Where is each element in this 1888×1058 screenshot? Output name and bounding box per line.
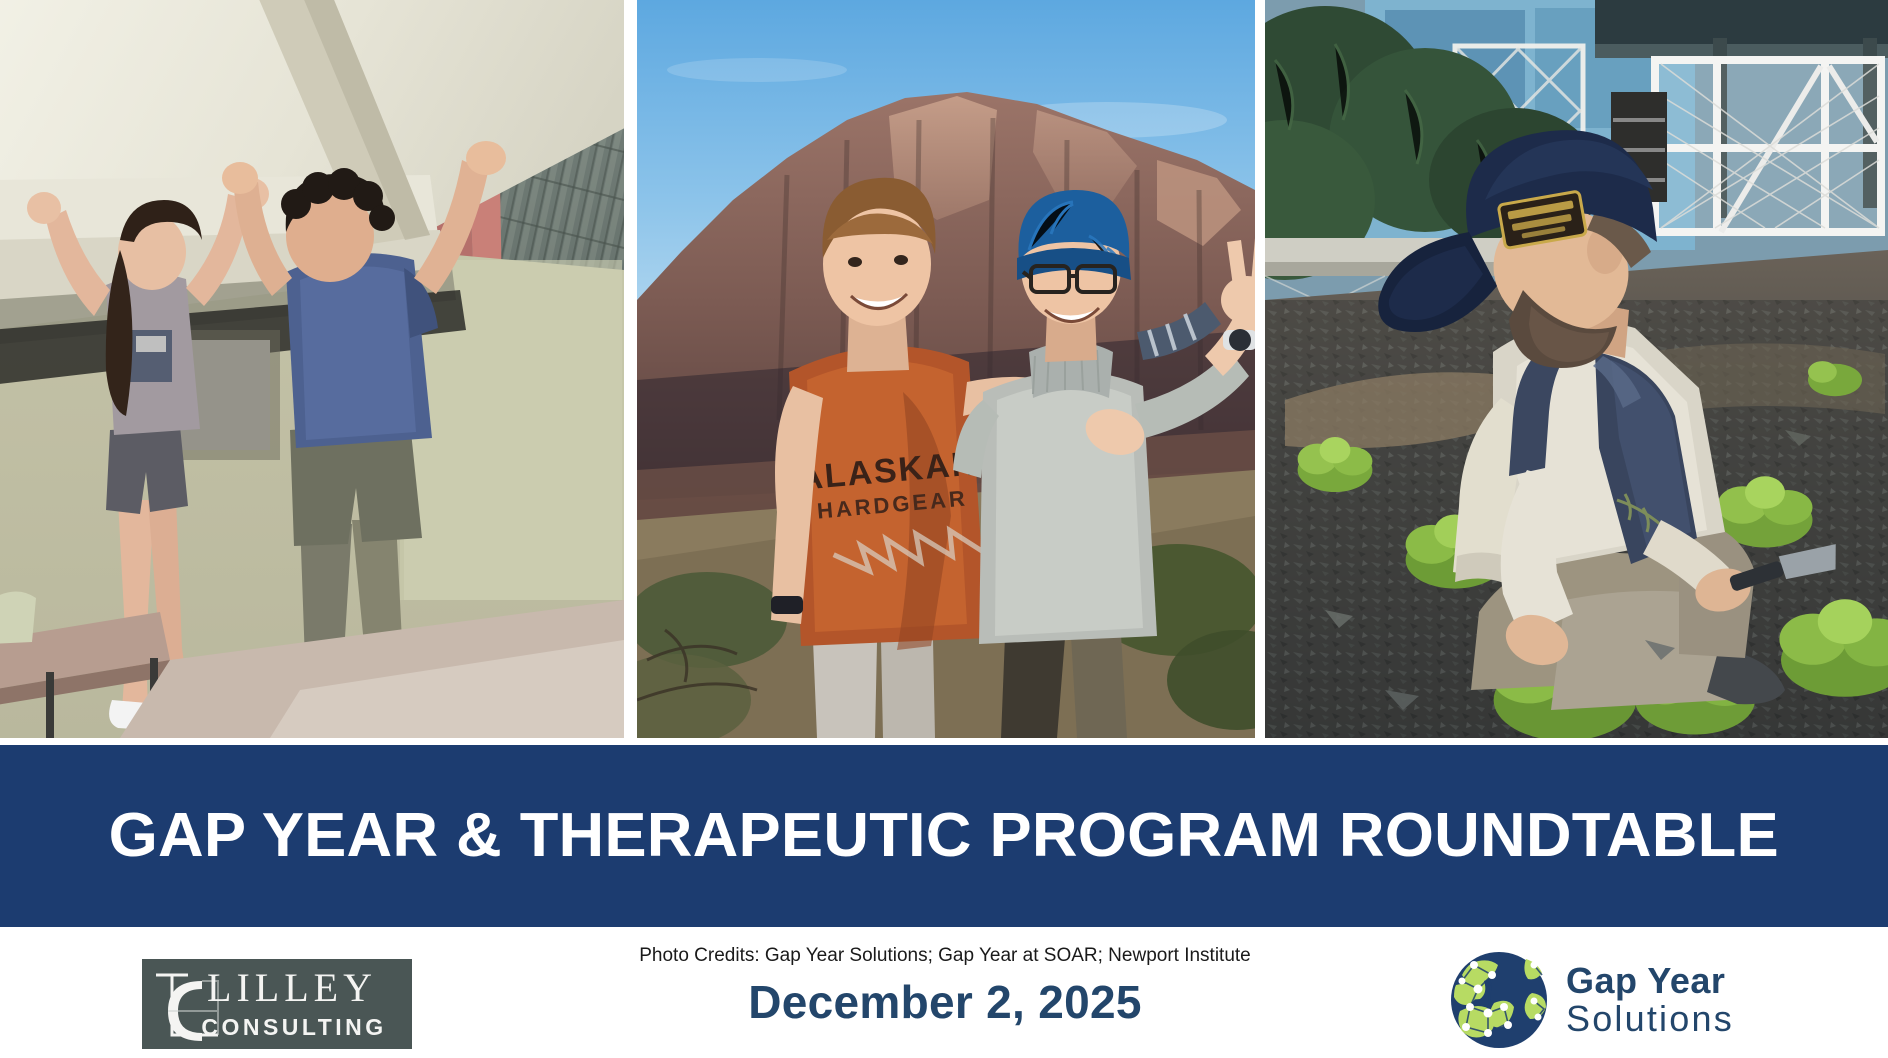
gap-year-solutions-logo: Gap Year Solutions (1448, 947, 1768, 1052)
gys-wordmark-line1: Gap Year (1566, 962, 1734, 1000)
photo-volunteers-building (0, 0, 624, 738)
globe-icon-art (1448, 949, 1550, 1051)
slide-root: ALASKAN HARDGEAR (0, 0, 1888, 1058)
footer: LILLEY CONSULTING Photo Credits: Gap Yea… (0, 927, 1888, 1058)
footer-center-block: Photo Credits: Gap Year Solutions; Gap Y… (450, 945, 1440, 1027)
photo-credits: Photo Credits: Gap Year Solutions; Gap Y… (450, 945, 1440, 968)
photo-volunteers-building-art (0, 0, 624, 738)
lilley-wordmark-primary: LILLEY (207, 965, 377, 1010)
photo-gardener-planting (1265, 0, 1888, 738)
globe-icon (1448, 949, 1550, 1051)
gys-wordmark-line2: Solutions (1566, 1000, 1734, 1038)
lilley-consulting-logo-art: LILLEY CONSULTING (142, 959, 412, 1049)
title-banner: GAP YEAR & THERAPEUTIC PROGRAM ROUNDTABL… (0, 745, 1888, 927)
lilley-wordmark-secondary: CONSULTING (201, 1014, 386, 1040)
photo-strip: ALASKAN HARDGEAR (0, 0, 1888, 738)
photo-gardener-planting-art (1265, 0, 1888, 738)
page-title: GAP YEAR & THERAPEUTIC PROGRAM ROUNDTABL… (109, 805, 1779, 867)
photo-students-mountain: ALASKAN HARDGEAR (637, 0, 1255, 738)
lilley-consulting-logo: LILLEY CONSULTING (142, 959, 412, 1049)
gap-year-solutions-wordmark: Gap Year Solutions (1566, 962, 1734, 1038)
photo-students-mountain-art: ALASKAN HARDGEAR (637, 0, 1255, 738)
event-date: December 2, 2025 (450, 977, 1440, 1028)
